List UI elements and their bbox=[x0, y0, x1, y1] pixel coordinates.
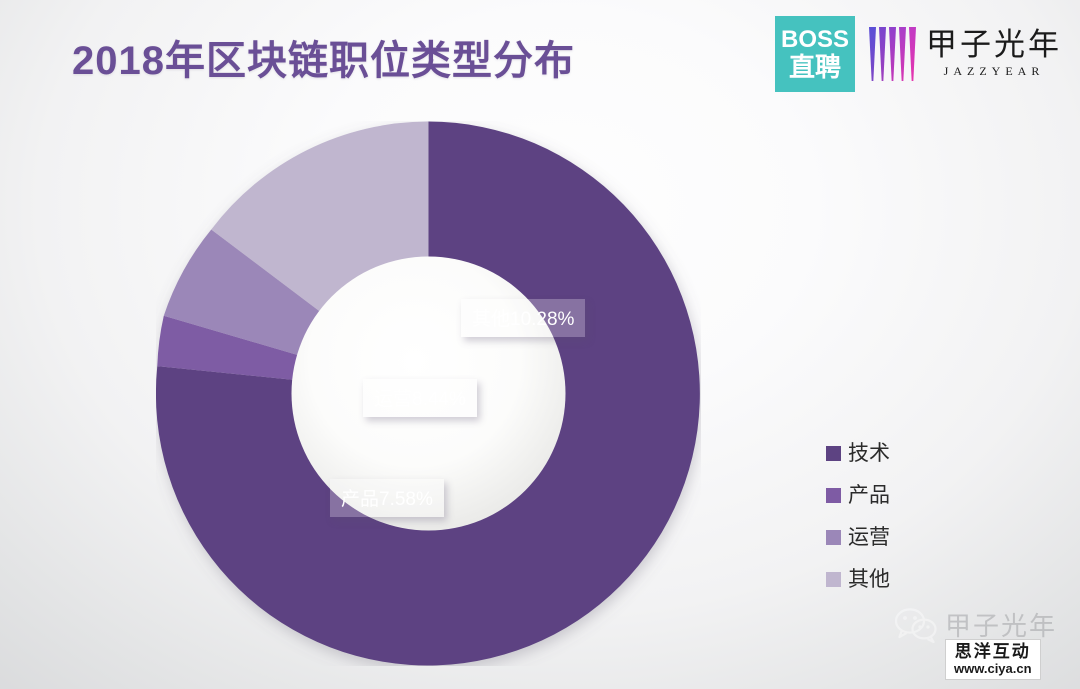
page-title: 2018年区块链职位类型分布 bbox=[72, 28, 575, 86]
legend-item-operations[interactable]: 运营 bbox=[826, 527, 936, 548]
legend-label: 其他 bbox=[848, 569, 890, 590]
legend-label: 技术 bbox=[848, 443, 890, 464]
legend-item-tech[interactable]: 技术 bbox=[826, 443, 936, 464]
ciya-name: 思洋互动 bbox=[954, 643, 1032, 661]
watermark-account-name: 甲子光年 bbox=[945, 606, 1057, 643]
legend-label: 产品 bbox=[848, 485, 890, 506]
logo-bar: BOSS 直聘 甲子光年 JAZZYEAR bbox=[775, 16, 1062, 92]
legend-swatch-icon bbox=[826, 488, 841, 503]
legend-swatch-icon bbox=[826, 446, 841, 461]
boss-zhipin-logo: BOSS 直聘 bbox=[775, 16, 855, 92]
jazzyear-name-cn: 甲子光年 bbox=[926, 29, 1062, 62]
boss-logo-line1: BOSS bbox=[781, 28, 849, 52]
legend-swatch-icon bbox=[826, 530, 841, 545]
ciya-watermark-box: 思洋互动 www.ciya.cn bbox=[945, 639, 1041, 680]
legend-swatch-icon bbox=[826, 572, 841, 587]
slide-canvas: 2018年区块链职位类型分布 BOSS 直聘 甲子光年 JAZZYEAR bbox=[0, 0, 1080, 689]
boss-logo-line2: 直聘 bbox=[789, 54, 841, 80]
wechat-icon bbox=[895, 607, 937, 643]
chart-legend: 技术 产品 运营 其他 bbox=[826, 443, 936, 590]
donut-chart: 其他10.28% 运营8.44% 产品7.58% 技术73.70% bbox=[156, 121, 701, 666]
legend-item-product[interactable]: 产品 bbox=[826, 485, 936, 506]
ciya-url: www.ciya.cn bbox=[954, 662, 1032, 676]
jazzyear-logo: 甲子光年 JAZZYEAR bbox=[869, 23, 1062, 85]
legend-label: 运营 bbox=[848, 527, 890, 548]
legend-item-other[interactable]: 其他 bbox=[826, 569, 936, 590]
slice-label-product: 产品7.58% bbox=[330, 479, 444, 517]
slice-label-operations: 运营8.44% bbox=[363, 379, 477, 417]
jazzyear-name-en: JAZZYEAR bbox=[944, 64, 1045, 79]
watermark: 甲子光年 bbox=[895, 606, 1057, 643]
jazzyear-wordmark: 甲子光年 JAZZYEAR bbox=[926, 29, 1062, 80]
slice-label-other: 其他10.28% bbox=[461, 299, 585, 337]
jazzyear-mark-icon bbox=[869, 23, 916, 85]
